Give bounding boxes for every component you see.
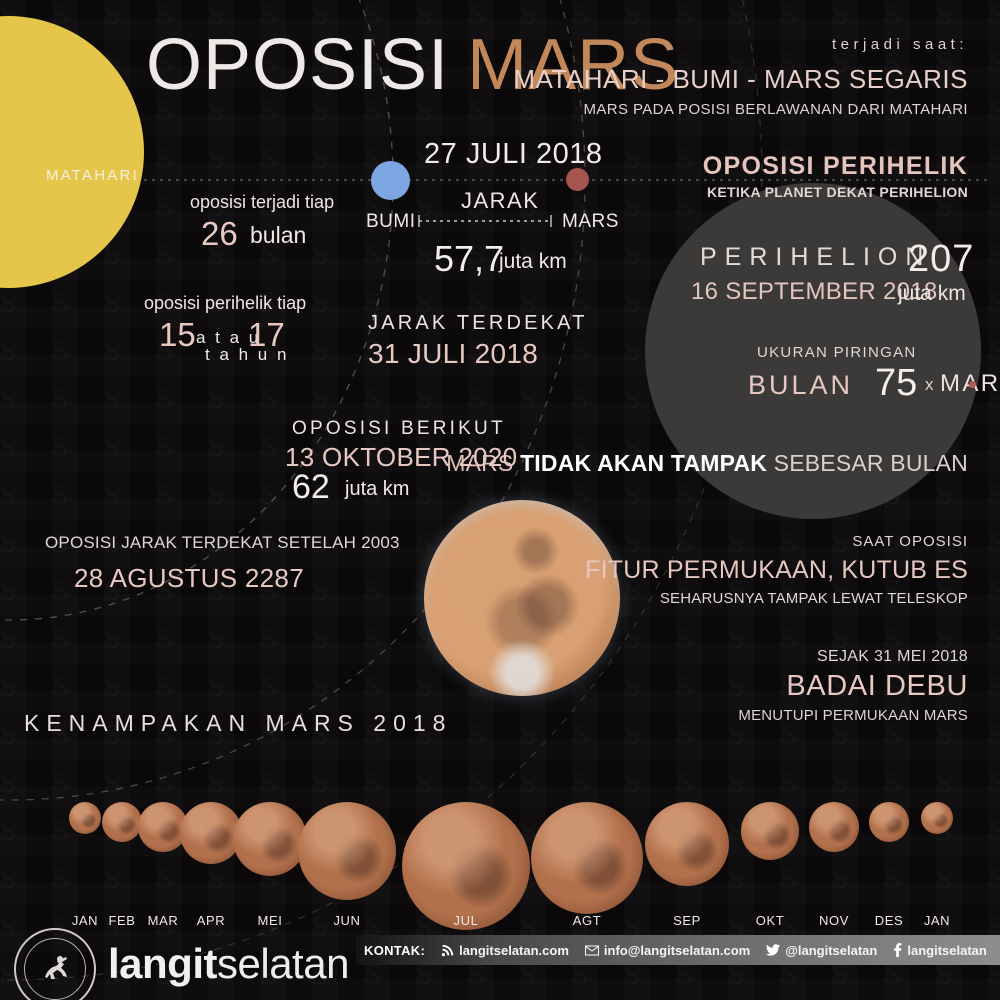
opposition-cycle-unit: bulan (250, 222, 306, 249)
closest-after-2003-label: OPOSISI JARAK TERDEKAT SETELAH 2003 (45, 533, 400, 553)
watermark-letter: S (988, 576, 1000, 606)
watermark-letter: S (676, 672, 693, 702)
mars-photo-disc (424, 500, 620, 696)
mars-disc (233, 802, 307, 876)
closest-approach-date: 31 JULI 2018 (368, 338, 538, 370)
watermark-letter: S (260, 432, 277, 462)
watermark-letter: S (728, 672, 745, 702)
watermark-letter: S (260, 144, 277, 174)
watermark-letter: S (416, 240, 433, 270)
rss-icon (441, 944, 454, 957)
watermark-letter: S (988, 624, 1000, 654)
watermark-letter: S (624, 192, 641, 222)
watermark-letter: S (0, 288, 17, 318)
watermark-letter: S (0, 624, 17, 654)
watermark-letter: S (988, 192, 1000, 222)
mars-disc (869, 802, 909, 842)
contact-bar: KONTAK: langitselatan.com info@langitsel… (356, 935, 1000, 965)
mars-size-progression: JANFEBMARAPRMEIJUNJULAGTSEPOKTNOVDESJAN (0, 760, 1000, 900)
disc-size-caption: UKURAN PIRINGAN (757, 344, 917, 361)
horse-rider-icon (33, 947, 77, 991)
watermark-letter: S (676, 480, 693, 510)
mars-month-item: JUL (402, 802, 530, 930)
closest-after-2003-date: 28 AGUSTUS 2287 (74, 563, 304, 594)
watermark-letter: S (312, 624, 329, 654)
watermark-letter: S (364, 384, 381, 414)
brand-part-langit: langit (108, 940, 217, 987)
watermark-letter: S (312, 672, 329, 702)
mars-dot (566, 168, 589, 191)
watermark-letter: S (416, 528, 433, 558)
contact-item-website[interactable]: langitselatan.com (441, 943, 569, 958)
header-kicker: terjadi saat: (832, 36, 968, 53)
watermark-letter: S (936, 480, 953, 510)
mars-disc (645, 802, 729, 886)
watermark-letter: S (468, 384, 485, 414)
watermark-letter: S (104, 672, 121, 702)
langitselatan-seal-logo (14, 928, 96, 1000)
sun-label: MATAHARI (46, 167, 139, 184)
watermark-letter: S (208, 624, 225, 654)
watermark-letter: S (364, 624, 381, 654)
watermark-letter: S (0, 480, 17, 510)
watermark-letter: S (312, 384, 329, 414)
watermark-letter: S (0, 432, 17, 462)
watermark-letter: S (260, 480, 277, 510)
watermark-letter: S (832, 528, 849, 558)
watermark-letter: S (52, 432, 69, 462)
watermark-letter: S (676, 720, 693, 750)
contact-item-facebook[interactable]: langitselatan (893, 943, 986, 958)
watermark-letter: S (52, 480, 69, 510)
watermark-letter: S (468, 480, 485, 510)
mars-month-item: JUN (298, 802, 396, 900)
perihelic-cycle-n1: 15 (159, 316, 196, 354)
watermark-letter: S (572, 480, 589, 510)
dust-storm-sub: MENUTUPI PERMUKAAN MARS (738, 707, 968, 724)
watermark-letter: S (988, 0, 1000, 30)
watermark-letter: S (208, 384, 225, 414)
watermark-letter: S (624, 144, 641, 174)
contact-email-text: info@langitselatan.com (604, 943, 750, 958)
opposition-2018-date: 27 JULI 2018 (424, 138, 603, 171)
mars-label: MARS (562, 211, 619, 233)
watermark-letter: S (728, 720, 745, 750)
watermark-letter: S (832, 720, 849, 750)
twitter-icon (766, 944, 780, 956)
mars-month-item: AGT (531, 802, 643, 914)
watermark-letter: S (676, 624, 693, 654)
header-opposite-line: MARS PADA POSISI BERLAWANAN DARI MATAHAR… (583, 101, 968, 118)
infographic-poster: SSSSSSSSSSSSSSSSSSSSSSSSSSSSSSSSSSSSSSSS… (0, 0, 1000, 1000)
watermark-letter: S (988, 480, 1000, 510)
contact-twitter-text: @langitselatan (785, 943, 877, 958)
perihelic-opposition-title: OPOSISI PERIHELIK (703, 152, 968, 181)
watermark-letter: S (312, 144, 329, 174)
mars-disc (102, 802, 142, 842)
watermark-letter: S (156, 192, 173, 222)
watermark-letter: S (156, 144, 173, 174)
mars-disc (402, 802, 530, 930)
watermark-letter: S (104, 432, 121, 462)
watermark-letter: S (728, 624, 745, 654)
watermark-letter: S (624, 336, 641, 366)
watermark-letter: S (988, 432, 1000, 462)
watermark-letter: S (780, 720, 797, 750)
opposition-cycle-number: 26 (201, 215, 238, 253)
watermark-letter: S (988, 240, 1000, 270)
watermark-letter: S (624, 288, 641, 318)
perihelion-distance-number: 207 (908, 238, 974, 281)
next-opposition-distance: 62 (292, 468, 330, 507)
watermark-letter: S (156, 432, 173, 462)
watermark-letter: S (260, 624, 277, 654)
perihelion-word: PERIHELION (700, 243, 931, 272)
next-opposition-distance-unit: juta km (345, 478, 409, 501)
watermark-letter: S (416, 384, 433, 414)
watermark-letter: S (312, 576, 329, 606)
title-word-oposisi: OPOSISI (146, 25, 449, 105)
watermark-letter: S (52, 384, 69, 414)
watermark-letter: S (520, 720, 537, 750)
mars-disc (741, 802, 799, 860)
contact-item-twitter[interactable]: @langitselatan (766, 943, 877, 958)
mars-month-item: OKT (741, 802, 799, 860)
mars-month-item: JAN (69, 802, 101, 834)
perihelic-cycle-unit: t a h u n (205, 345, 289, 365)
disc-size-factor: 75 (875, 362, 917, 405)
mars-month-item: SEP (645, 802, 729, 886)
opposition-2018-distance: 57,7 (434, 238, 504, 280)
watermark-letter: S (52, 576, 69, 606)
watermark-letter: S (988, 336, 1000, 366)
mars-disc (921, 802, 953, 834)
watermark-letter: S (208, 672, 225, 702)
mini-mars-dot-icon (969, 381, 976, 388)
watermark-letter: S (208, 480, 225, 510)
watermark-letter: S (156, 624, 173, 654)
watermark-letter: S (884, 720, 901, 750)
mars-disc (298, 802, 396, 900)
watermark-letter: S (0, 720, 17, 750)
earth-label: BUMI (366, 211, 416, 233)
earth-dot (371, 161, 410, 200)
header-alignment-line: MATAHARI - BUMI - MARS SEGARIS (513, 64, 968, 95)
watermark-letter: S (208, 432, 225, 462)
perihelion-distance-unit: juta km (898, 282, 966, 306)
watermark-letter: S (104, 480, 121, 510)
watermark-letter: S (676, 528, 693, 558)
dust-storm-headline: BADAI DEBU (786, 670, 968, 703)
sun-disc (0, 16, 144, 288)
watermark-letter: S (780, 528, 797, 558)
watermark-letter: S (520, 384, 537, 414)
watermark-letter: S (260, 384, 277, 414)
watermark-letter: S (52, 672, 69, 702)
seal-inner-ring (24, 938, 86, 1000)
watermark-letter: S (988, 288, 1000, 318)
watermark-letter: S (0, 576, 17, 606)
watermark-letter: S (624, 528, 641, 558)
watermark-letter: S (624, 480, 641, 510)
watermark-letter: S (572, 720, 589, 750)
watermark-letter: S (624, 240, 641, 270)
watermark-letter: S (52, 624, 69, 654)
envelope-icon (585, 945, 599, 956)
watermark-letter: S (364, 576, 381, 606)
mars-disc (531, 802, 643, 914)
watermark-letter: S (156, 672, 173, 702)
watermark-letter: S (104, 0, 121, 30)
watermark-letter: S (676, 144, 693, 174)
watermark-letter: S (156, 480, 173, 510)
watermark-letter: S (0, 528, 17, 558)
watermark-letter: S (52, 288, 69, 318)
watermark-letter: S (624, 672, 641, 702)
contact-facebook-text: langitselatan (907, 943, 986, 958)
brand-part-selatan: selatan (217, 940, 349, 987)
watermark-letter: S (52, 336, 69, 366)
watermark-letter: S (468, 720, 485, 750)
not-as-big-part-b: TIDAK AKAN TAMPAK (520, 450, 774, 476)
watermark-letter: S (312, 288, 329, 318)
disc-size-times-symbol: x (925, 375, 934, 395)
watermark-letter: S (0, 336, 17, 366)
watermark-letter: S (416, 672, 433, 702)
watermark-letter: S (156, 240, 173, 270)
contact-website-text: langitselatan.com (459, 943, 569, 958)
watermark-letter: S (624, 720, 641, 750)
watermark-letter: S (728, 0, 745, 30)
mars-month-item: FEB (102, 802, 142, 842)
watermark-letter: S (312, 240, 329, 270)
next-opposition-label: OPOSISI BERIKUT (292, 418, 506, 440)
watermark-letter: S (676, 192, 693, 222)
opposition-2018-distance-unit: juta km (499, 250, 567, 274)
watermark-letter: S (936, 720, 953, 750)
watermark-letter: S (156, 384, 173, 414)
watermark-letter: S (208, 144, 225, 174)
not-as-big-part-c: SEBESAR BULAN (774, 450, 968, 476)
opposition-cycle-label: oposisi terjadi tiap (190, 192, 334, 213)
dust-storm-kicker: SEJAK 31 MEI 2018 (817, 648, 968, 666)
watermark-letter: S (780, 624, 797, 654)
mars-month-item: MEI (233, 802, 307, 876)
watermark-letter: S (988, 96, 1000, 126)
watermark-letter: S (0, 672, 17, 702)
surface-headline: FITUR PERMUKAAN, KUTUB ES (585, 556, 968, 585)
watermark-letter: S (884, 0, 901, 30)
contact-item-email[interactable]: info@langitselatan.com (585, 943, 750, 958)
watermark-letter: S (416, 192, 433, 222)
disc-size-moon-label: BULAN (748, 370, 853, 401)
distance-label: JARAK (461, 188, 539, 214)
not-as-big-statement: MARS TIDAK AKAN TAMPAK SEBESAR BULAN (446, 450, 968, 477)
watermark-letter: S (988, 528, 1000, 558)
surface-kicker: SAAT OPOSISI (852, 533, 968, 550)
facebook-icon (893, 943, 902, 957)
watermark-letter: S (572, 384, 589, 414)
contact-label: KONTAK: (364, 943, 425, 958)
watermark-letter: S (624, 384, 641, 414)
watermark-letter: S (624, 624, 641, 654)
watermark-letter: S (572, 240, 589, 270)
watermark-letter: S (988, 144, 1000, 174)
watermark-letter: S (572, 336, 589, 366)
watermark-letter: S (988, 48, 1000, 78)
mars-disc (69, 802, 101, 834)
watermark-letter: S (936, 0, 953, 30)
watermark-letter: S (104, 288, 121, 318)
mars-month-item: NOV (809, 802, 859, 852)
watermark-letter: S (780, 0, 797, 30)
mars-month-item: JAN (921, 802, 953, 834)
watermark-letter: S (988, 720, 1000, 750)
watermark-letter: S (104, 336, 121, 366)
mars-disc (809, 802, 859, 852)
watermark-letter: S (364, 672, 381, 702)
watermark-letter: S (104, 624, 121, 654)
watermark-letter: S (832, 0, 849, 30)
watermark-letter: S (260, 672, 277, 702)
watermark-letter: S (416, 480, 433, 510)
brand-wordmark: langitselatan (108, 940, 349, 988)
perihelic-cycle-label: oposisi perihelik tiap (144, 293, 306, 314)
closest-approach-label: JARAK TERDEKAT (368, 312, 588, 335)
surface-sub: SEHARUSNYA TAMPAK LEWAT TELESKOP (660, 590, 968, 607)
appearance-section-title: KENAMPAKAN MARS 2018 (24, 710, 452, 737)
watermark-letter: S (0, 384, 17, 414)
watermark-letter: S (312, 336, 329, 366)
mars-month-item: DES (869, 802, 909, 842)
watermark-letter: S (104, 384, 121, 414)
perihelic-opposition-sub: KETIKA PLANET DEKAT PERIHELION (707, 184, 968, 200)
watermark-letter: S (728, 528, 745, 558)
watermark-letter: S (988, 672, 1000, 702)
watermark-letter: S (364, 240, 381, 270)
